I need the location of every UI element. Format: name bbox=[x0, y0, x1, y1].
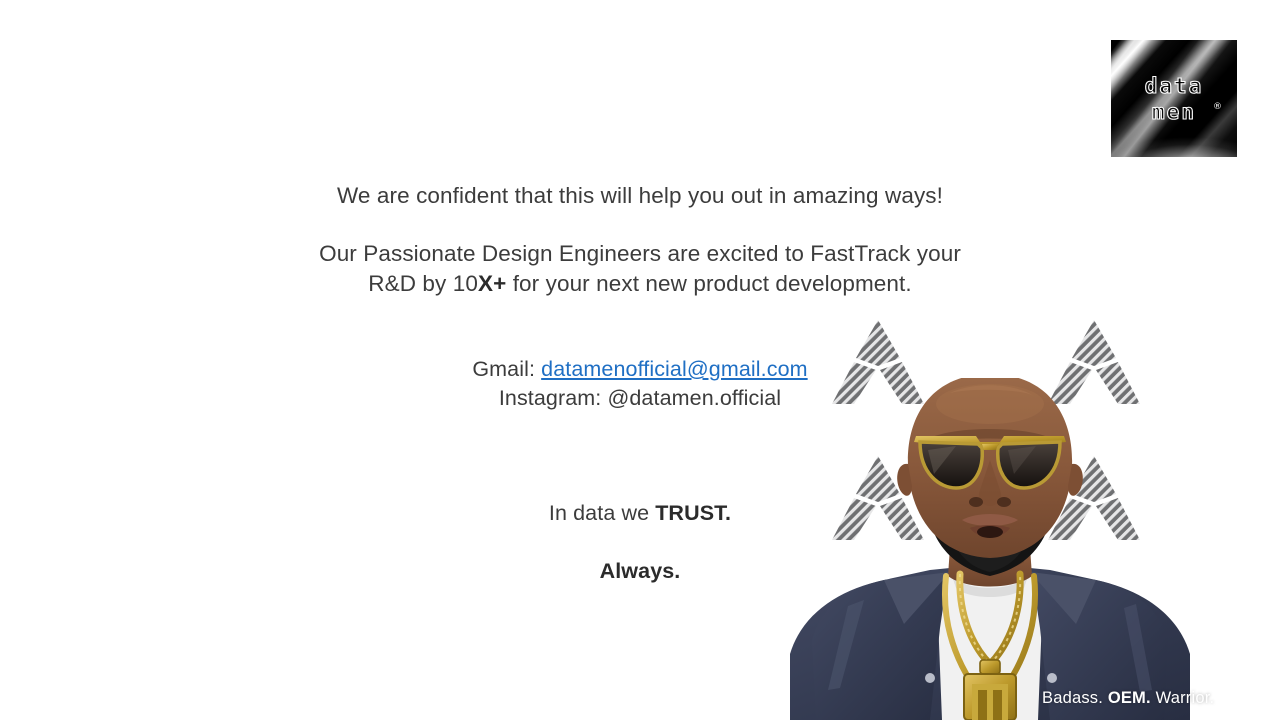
slide-canvas: data men ® We are confident that this wi… bbox=[0, 0, 1280, 720]
gmail-label: Gmail: bbox=[472, 357, 541, 381]
confidence-line: We are confident that this will help you… bbox=[0, 181, 1280, 211]
tagline-emphasis: OEM. bbox=[1108, 689, 1151, 707]
fasttrack-paragraph: Our Passionate Design Engineers are exci… bbox=[0, 239, 1280, 298]
fasttrack-line-2-post: for your next new product development. bbox=[506, 271, 911, 296]
gmail-address-link[interactable]: datamenofficial@gmail.com bbox=[541, 357, 808, 381]
multiplier-emphasis: X+ bbox=[478, 271, 506, 296]
trust-emphasis: TRUST. bbox=[655, 501, 731, 525]
registered-trademark-icon: ® bbox=[1213, 102, 1222, 112]
fasttrack-line-1: Our Passionate Design Engineers are exci… bbox=[0, 239, 1280, 269]
trust-line-pre: In data we bbox=[549, 501, 655, 525]
tagline-pre: Badass. bbox=[1042, 689, 1108, 707]
fasttrack-line-2-pre: R&D by 10 bbox=[368, 271, 478, 296]
logo-wordmark: data men bbox=[1111, 76, 1237, 123]
always-emphasis: Always. bbox=[600, 559, 681, 583]
fasttrack-line-2: R&D by 10X+ for your next new product de… bbox=[0, 269, 1280, 299]
logo-wordmark-line1: data bbox=[1111, 76, 1237, 97]
tagline: Badass. OEM. Warrior. bbox=[1042, 689, 1214, 708]
bearded-man-illustration bbox=[780, 378, 1200, 720]
tagline-post: Warrior. bbox=[1151, 689, 1215, 707]
datamen-logo: data men ® bbox=[1111, 40, 1237, 157]
